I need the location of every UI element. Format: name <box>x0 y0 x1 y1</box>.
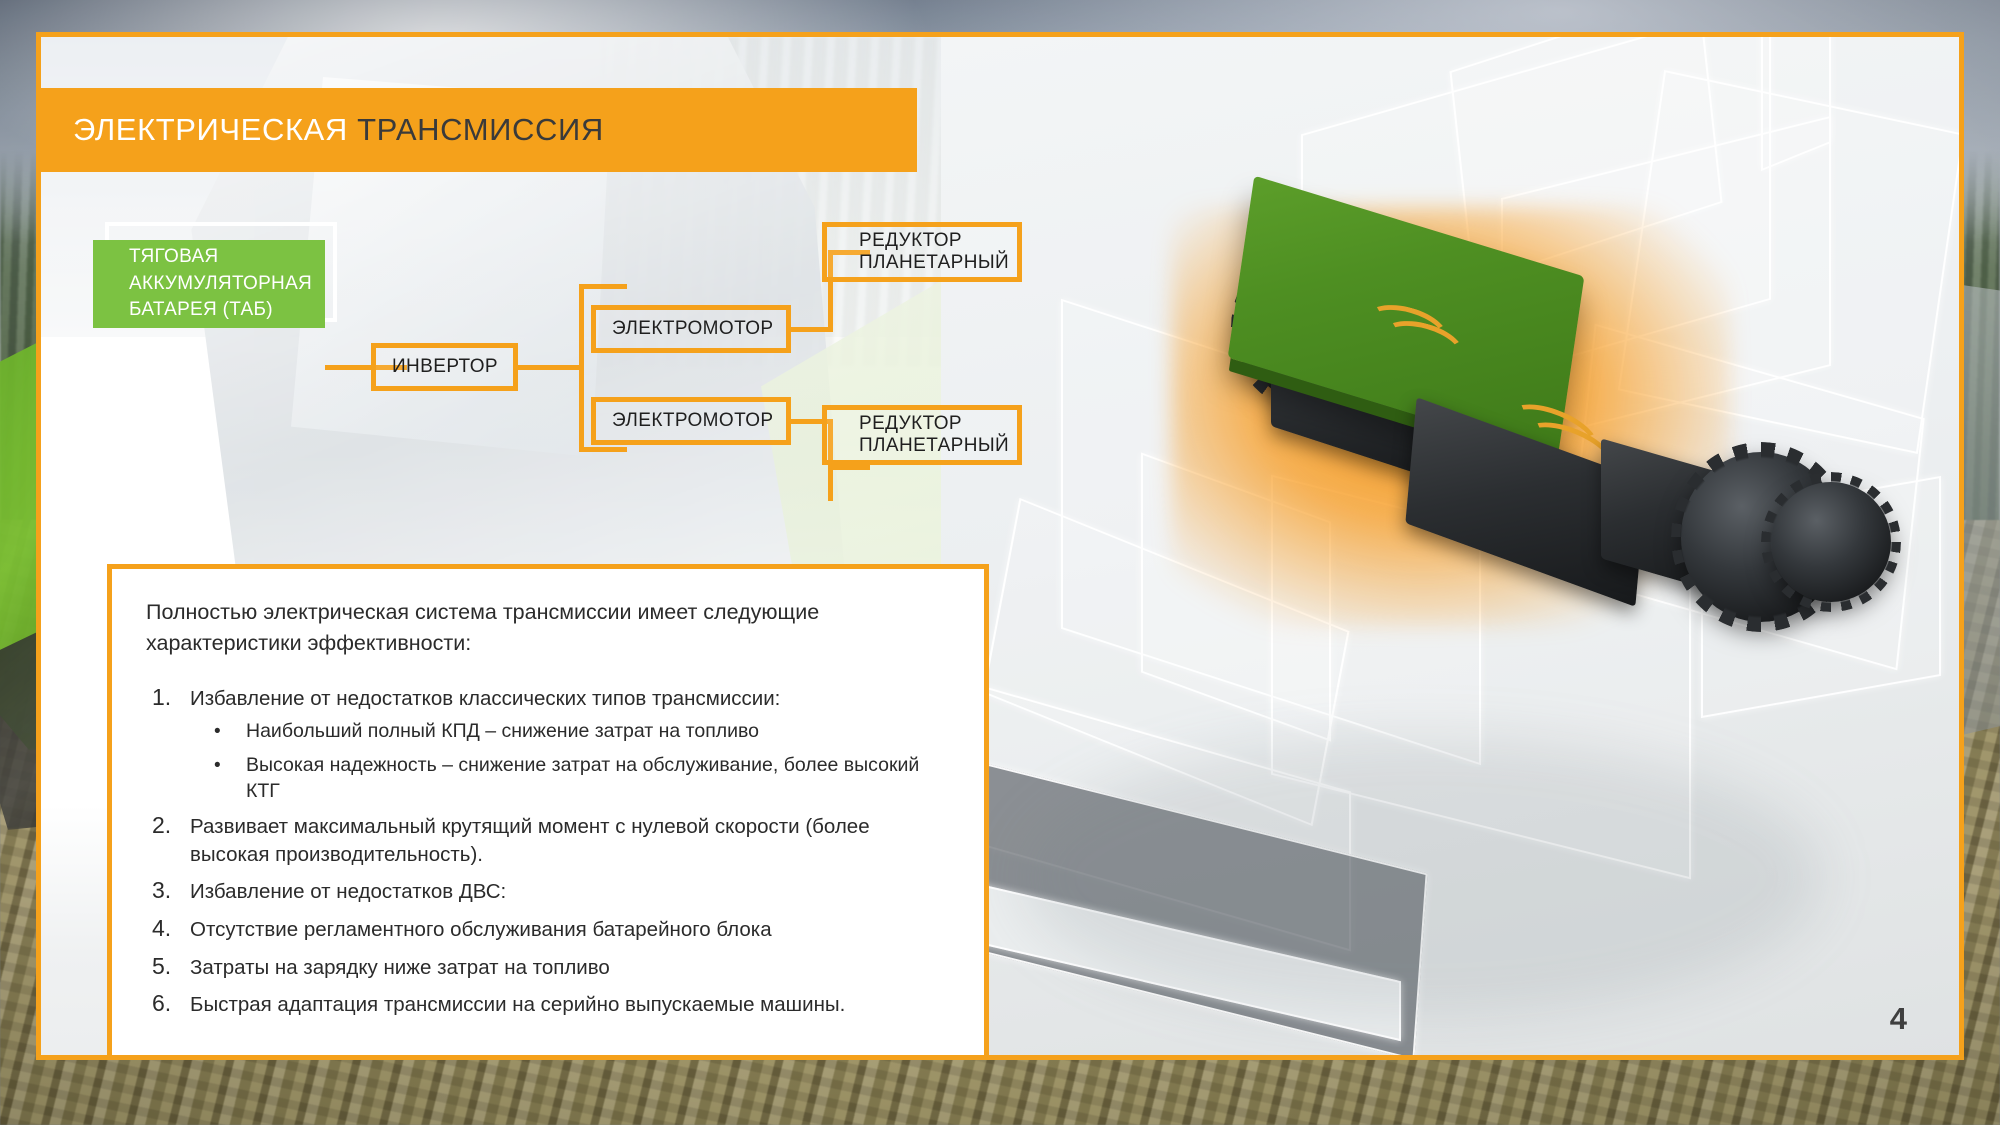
list-item-text: Избавление от недостатков ДВС: <box>190 880 506 903</box>
list-item: 1. Избавление от недостатков классически… <box>146 685 950 804</box>
bullet-dot-icon: • <box>214 720 221 745</box>
slide-frame: ЭЛЕКТРИЧЕСКАЯ ТРАНСМИССИЯ ТЯГОВАЯАККУМУЛ… <box>36 32 1964 1060</box>
diagram-node-electric-motor-bottom-label: ЭЛЕКТРОМОТОР <box>596 410 774 432</box>
list-item-text: Затраты на зарядку ниже затрат на топлив… <box>190 956 610 979</box>
sub-list-item: • Высокая надежность – снижение затрат н… <box>190 753 950 804</box>
list-item: 5. Затраты на зарядку ниже затрат на топ… <box>146 954 950 982</box>
diagram-node-planetary-gear-bottom[interactable]: РЕДУКТОРПЛАНЕТАРНЫЙ <box>822 405 1022 465</box>
sub-benefits-list: • Наибольший полный КПД – снижение затра… <box>190 719 950 804</box>
list-item: 3. Избавление от недостатков ДВС: <box>146 878 950 906</box>
title-word-transmission: ТРАНСМИССИЯ <box>357 112 604 147</box>
diagram-node-planetary-gear-bottom-label: РЕДУКТОРПЛАНЕТАРНЫЙ <box>827 413 1009 458</box>
diagram-node-inverter-label: ИНВЕРТОР <box>376 356 498 378</box>
panel-intro-text: Полностью электрическая система трансмис… <box>146 597 950 659</box>
connector-into-gear-bottom <box>828 465 870 470</box>
list-item: 6. Быстрая адаптация трансмиссии на сери… <box>146 991 950 1019</box>
diagram-node-electric-motor-top[interactable]: ЭЛЕКТРОМОТОР <box>591 305 791 353</box>
diagram-node-planetary-gear-top-label: РЕДУКТОРПЛАНЕТАРНЫЙ <box>827 230 1009 275</box>
list-item: 4. Отсутствие регламентного обслуживания… <box>146 916 950 944</box>
diagram-node-electric-motor-bottom[interactable]: ЭЛЕКТРОМОТОР <box>591 397 791 445</box>
page-title: ЭЛЕКТРИЧЕСКАЯ ТРАНСМИССИЯ <box>73 112 604 148</box>
sub-list-item: • Наибольший полный КПД – снижение затра… <box>190 719 950 744</box>
drive-hub-front <box>1771 482 1891 602</box>
list-item-text: Быстрая адаптация трансмиссии на серийно… <box>190 993 845 1016</box>
bulldozer-cutaway-illustration <box>941 37 1964 1060</box>
connector-vertical-bus <box>579 284 584 452</box>
list-item-number: 4. <box>152 913 171 944</box>
diagram-node-traction-battery-label: ТЯГОВАЯАККУМУЛЯТОРНАЯБАТАРЕЯ (ТАБ) <box>93 244 312 325</box>
list-item-number: 5. <box>152 951 171 982</box>
list-item-text: Развивает максимальный крутящий момент с… <box>190 815 870 866</box>
list-item-number: 6. <box>152 988 171 1019</box>
diagram-node-inverter[interactable]: ИНВЕРТОР <box>371 343 518 391</box>
diagram-node-electric-motor-top-label: ЭЛЕКТРОМОТОР <box>596 318 774 340</box>
connector-bus-to-motor-bottom <box>579 447 627 452</box>
list-item-text: Отсутствие регламентного обслуживания ба… <box>190 918 772 941</box>
list-item-number: 1. <box>152 682 171 713</box>
connector-bus-to-motor-top <box>579 284 627 289</box>
title-word-electric: ЭЛЕКТРИЧЕСКАЯ <box>73 112 348 147</box>
benefits-list: 1. Избавление от недостатков классически… <box>146 685 950 1019</box>
diagram-node-traction-battery[interactable]: ТЯГОВАЯАККУМУЛЯТОРНАЯБАТАРЕЯ (ТАБ) <box>93 240 325 328</box>
bullet-dot-icon: • <box>214 754 221 779</box>
connector-inverter-to-bus <box>518 365 584 370</box>
list-item-number: 2. <box>152 810 171 841</box>
sub-list-item-text: Наибольший полный КПД – снижение затрат … <box>246 720 759 742</box>
diagram-node-planetary-gear-top[interactable]: РЕДУКТОРПЛАНЕТАРНЫЙ <box>822 222 1022 282</box>
list-item: 2. Развивает максимальный крутящий момен… <box>146 813 950 868</box>
list-item-text: Избавление от недостатков классических т… <box>190 687 780 710</box>
connector-motor-top-to-gear-top <box>791 327 833 332</box>
slide-title-bar: ЭЛЕКТРИЧЕСКАЯ ТРАНСМИССИЯ <box>41 88 917 172</box>
render-shadow-under-machine <box>1021 737 1821 1017</box>
list-item-number: 3. <box>152 875 171 906</box>
benefits-text-panel: Полностью электрическая система трансмис… <box>107 564 989 1060</box>
slide-page-number: 4 <box>1890 1001 1907 1037</box>
sub-list-item-text: Высокая надежность – снижение затрат на … <box>246 754 919 801</box>
